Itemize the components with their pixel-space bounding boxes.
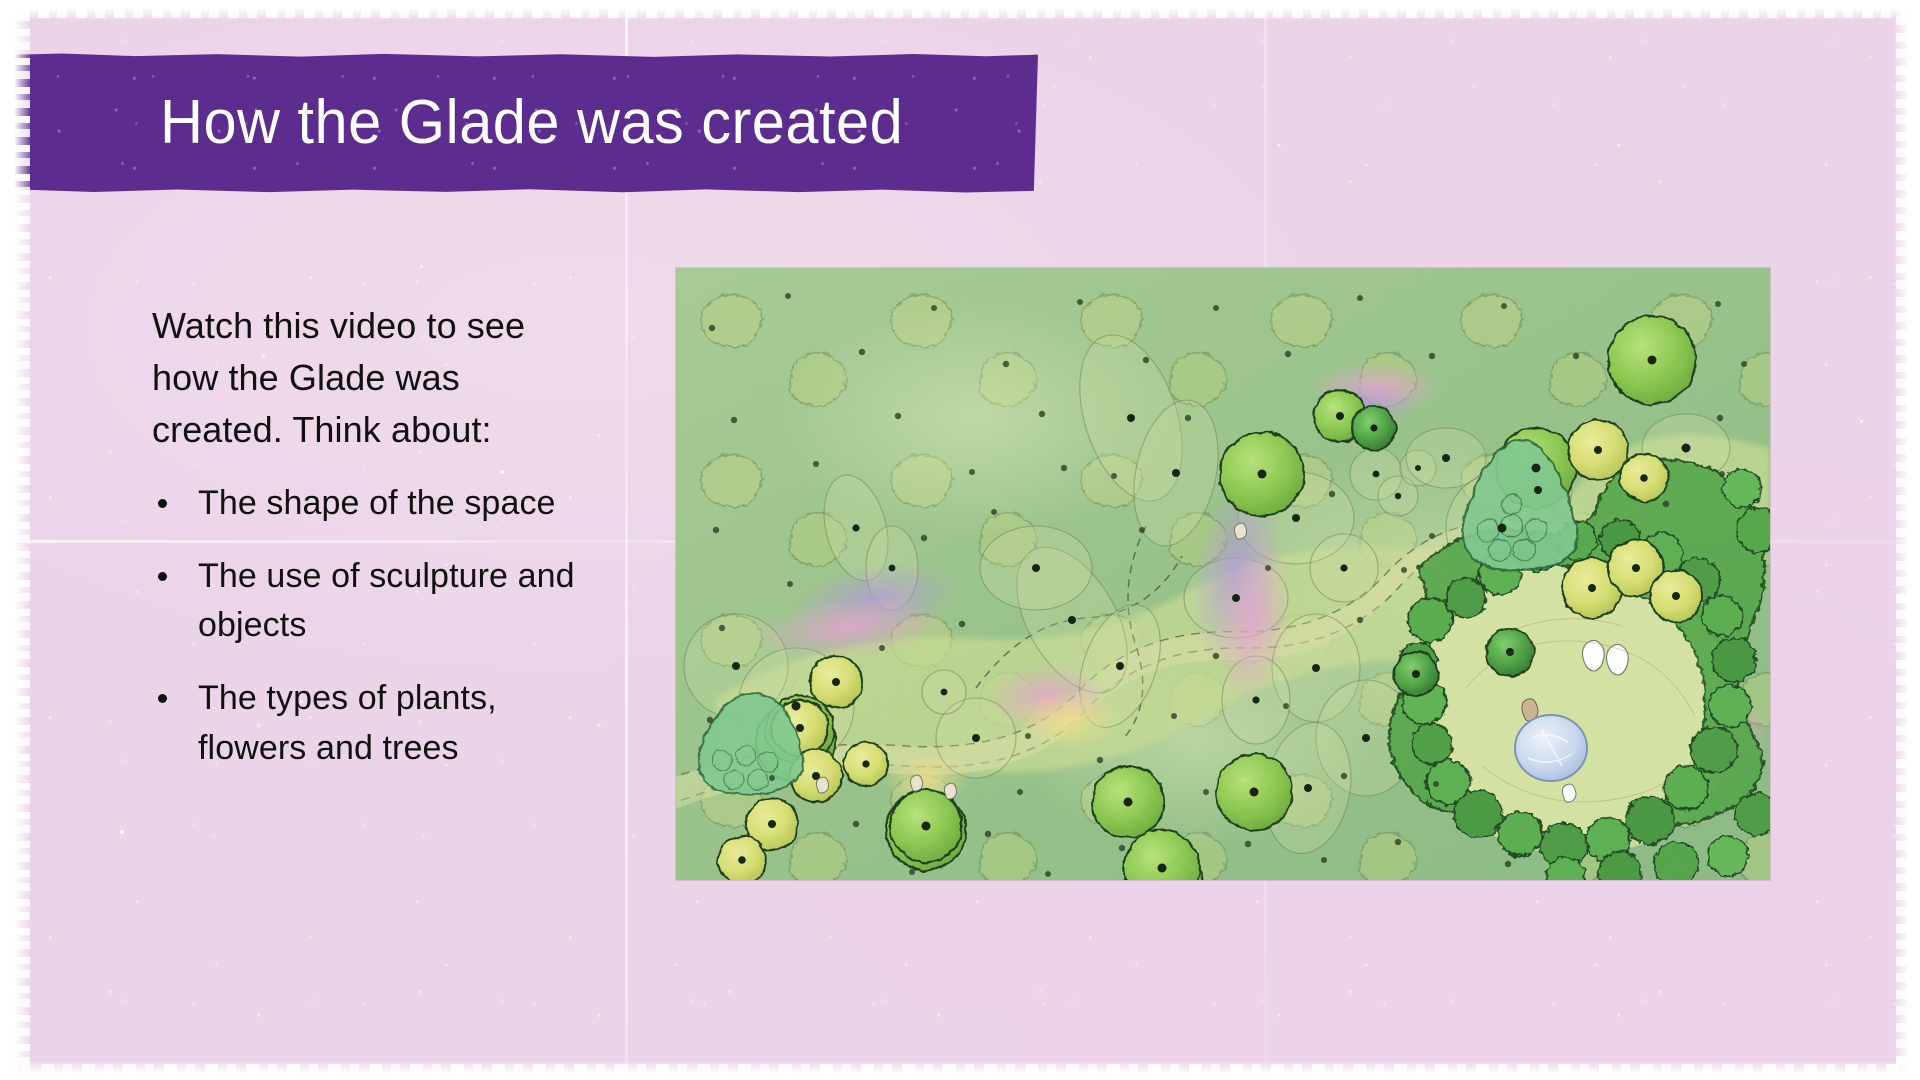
list-item-label: The shape of the space — [198, 484, 556, 522]
page-title: How the Glade was created — [160, 92, 903, 154]
presentation-slide: How the Glade was created Watch this vid… — [0, 0, 1920, 1080]
intro-paragraph: Watch this video to see how the Glade wa… — [152, 300, 592, 457]
bullet-dot-icon — [158, 499, 167, 508]
body-text-column: Watch this video to see how the Glade wa… — [152, 300, 592, 797]
list-item-label: The types of plants, flowers and trees — [198, 679, 497, 766]
list-item: The use of sculpture and objects — [152, 552, 592, 651]
bullet-dot-icon — [158, 694, 167, 703]
bullet-list: The shape of the space The use of sculpt… — [152, 479, 592, 773]
list-item: The types of plants, flowers and trees — [152, 674, 592, 773]
bullet-dot-icon — [158, 572, 167, 581]
garden-plan-svg — [676, 268, 1770, 880]
list-item: The shape of the space — [152, 479, 592, 528]
list-item-label: The use of sculpture and objects — [198, 557, 575, 644]
garden-plan-image — [676, 268, 1770, 880]
title-banner: How the Glade was created — [0, 53, 1038, 193]
